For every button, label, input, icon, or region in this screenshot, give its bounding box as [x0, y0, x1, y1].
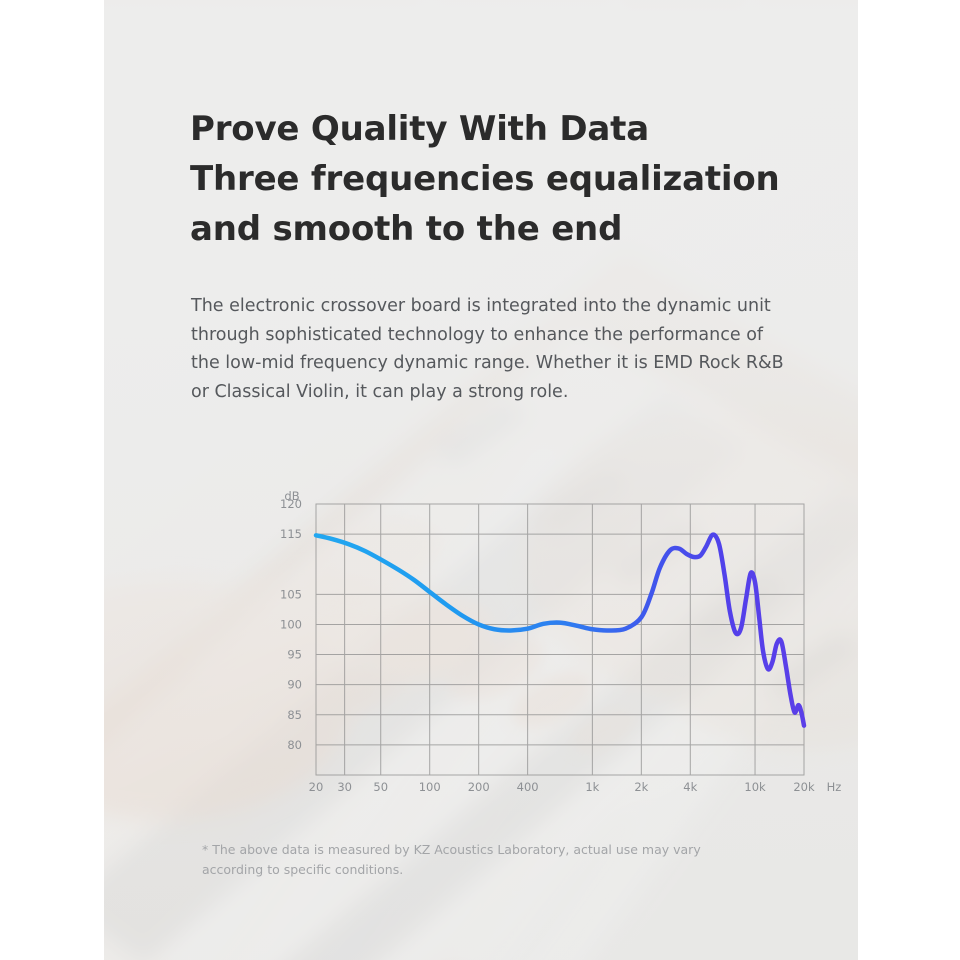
y-tick-label: 100	[280, 617, 302, 631]
x-tick-label: 20k	[793, 780, 815, 794]
y-tick-label: 80	[287, 738, 302, 752]
x-tick-label: 20	[309, 780, 324, 794]
description-paragraph: The electronic crossover board is integr…	[191, 292, 791, 406]
x-axis-unit-label: Hz	[827, 780, 842, 794]
top-accent-strip	[104, 0, 858, 5]
product-infographic-page: Prove Quality With Data Three frequencie…	[0, 0, 960, 960]
y-axis-unit-label: dB	[284, 489, 299, 503]
page-title: Prove Quality With Data Three frequencie…	[190, 104, 830, 254]
chart-gridlines	[316, 504, 804, 775]
x-tick-label: 100	[419, 780, 441, 794]
x-tick-label: 4k	[683, 780, 697, 794]
y-tick-label: 115	[280, 527, 302, 541]
content-panel: Prove Quality With Data Three frequencie…	[104, 0, 858, 960]
headline-line-3: and smooth to the end	[190, 204, 830, 254]
chart-y-axis-labels: 12011510510095908580	[280, 497, 302, 752]
frequency-response-chart: 12011510510095908580 2030501002004001k2k…	[174, 488, 854, 808]
frequency-response-curve	[316, 535, 804, 726]
x-tick-label: 2k	[634, 780, 648, 794]
x-tick-label: 10k	[744, 780, 766, 794]
headline-line-2: Three frequencies equalization	[190, 154, 830, 204]
y-tick-label: 85	[287, 708, 302, 722]
chart-svg: 12011510510095908580 2030501002004001k2k…	[174, 488, 854, 808]
chart-x-axis-labels: 2030501002004001k2k4k10k20k	[309, 780, 815, 794]
x-tick-label: 200	[468, 780, 490, 794]
y-tick-label: 105	[280, 587, 302, 601]
y-tick-label: 90	[287, 678, 302, 692]
chart-footnote: * The above data is measured by KZ Acous…	[202, 840, 762, 880]
headline-line-1: Prove Quality With Data	[190, 104, 830, 154]
x-tick-label: 1k	[585, 780, 599, 794]
x-tick-label: 400	[517, 780, 539, 794]
x-tick-label: 30	[337, 780, 352, 794]
y-tick-label: 95	[287, 648, 302, 662]
x-tick-label: 50	[373, 780, 388, 794]
